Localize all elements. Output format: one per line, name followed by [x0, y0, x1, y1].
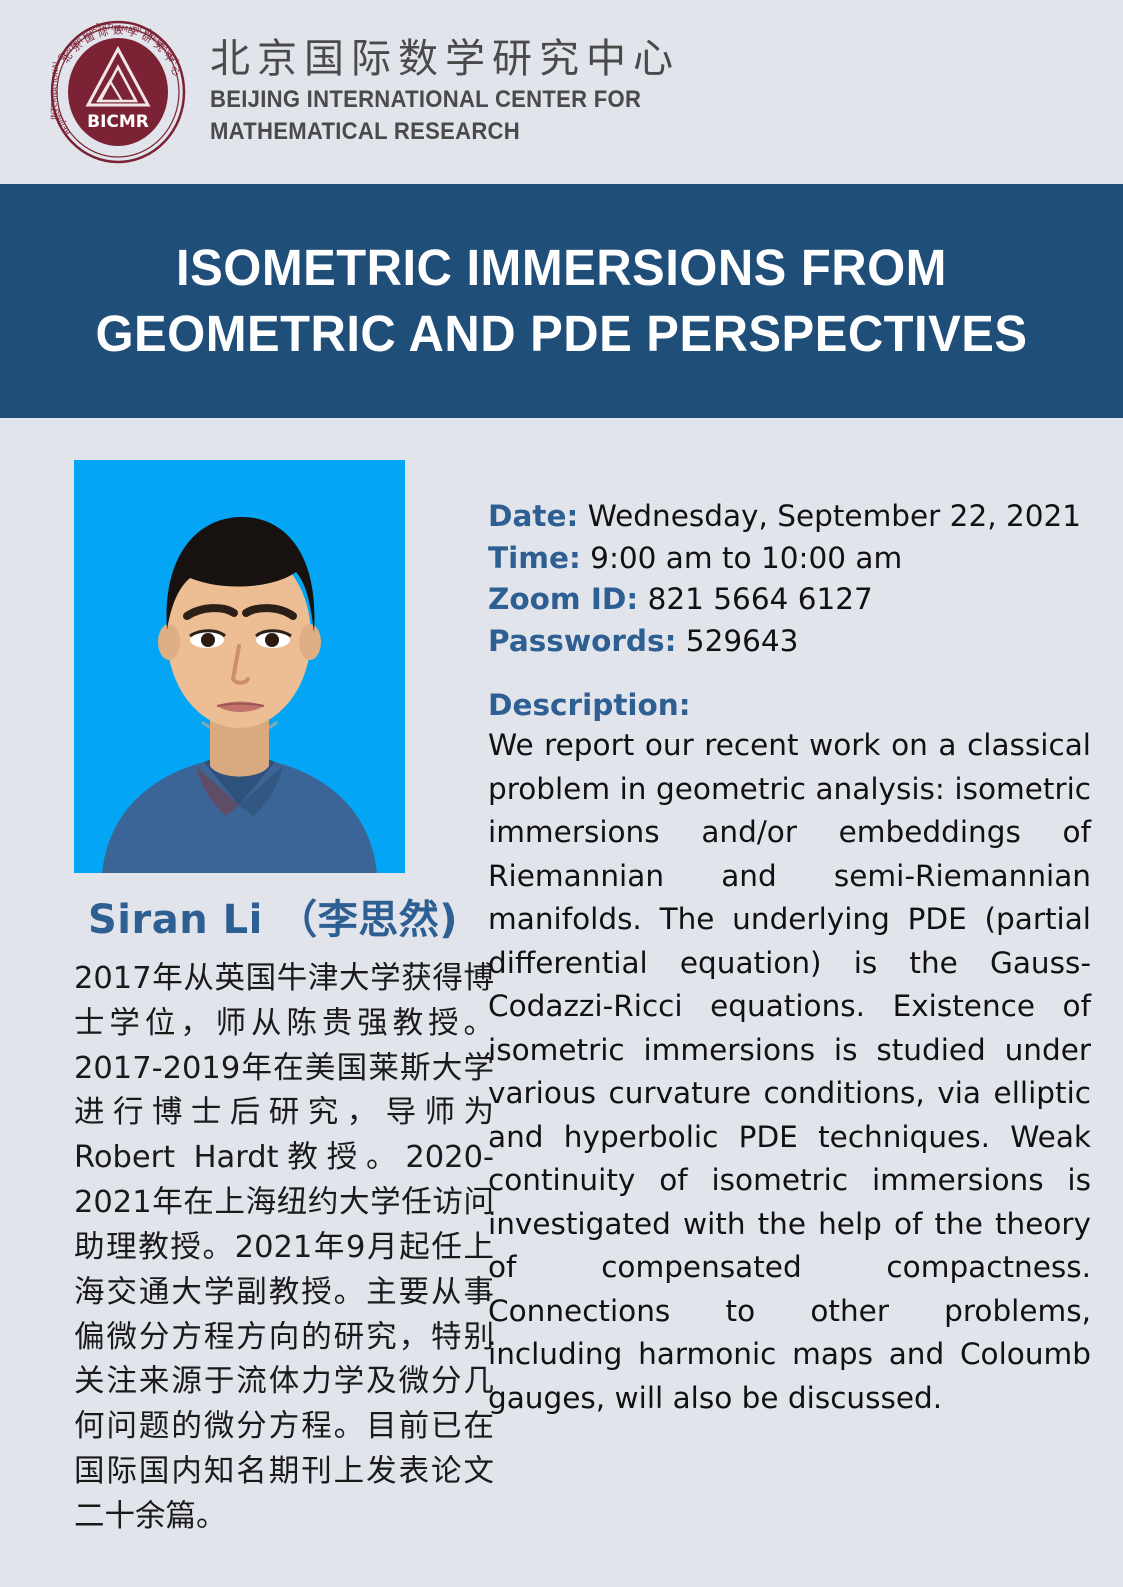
date-label: Date:: [488, 499, 578, 533]
organization-names: 北京国际数学研究中心 BEIJING INTERNATIONAL CENTER …: [210, 35, 680, 149]
description-heading: Description:: [488, 688, 1091, 722]
zoom-id-value: 821 5664 6127: [648, 582, 873, 616]
description-body: We report our recent work on a classical…: [488, 724, 1091, 1420]
speaker-bio: 2017年从英国牛津大学获得博士学位，师从陈贵强教授。2017-2019年在美国…: [74, 957, 494, 1540]
title-banner: ISOMETRIC IMMERSIONS FROM GEOMETRIC AND …: [0, 184, 1123, 418]
poster-header: BICMR BEIJING INTERNATIONAL CENTER FOR M…: [0, 0, 1123, 184]
svg-text:数: 数: [113, 24, 123, 37]
org-name-en-line1: BEIJING INTERNATIONAL CENTER FOR: [210, 84, 642, 116]
page-title: ISOMETRIC IMMERSIONS FROM GEOMETRIC AND …: [61, 235, 1062, 368]
time-value: 9:00 am to 10:00 am: [590, 541, 902, 575]
time-label: Time:: [488, 541, 581, 575]
bicmr-logo-icon: BICMR BEIJING INTERNATIONAL CENTER FOR M…: [48, 19, 188, 165]
zoom-id-label: Zoom ID:: [488, 582, 638, 616]
svg-text:BICMR: BICMR: [87, 112, 149, 132]
org-name-en-line2: MATHEMATICAL RESEARCH: [210, 116, 642, 148]
password-label: Passwords:: [488, 624, 676, 658]
password-value: 529643: [686, 624, 799, 658]
date-value: Wednesday, September 22, 2021: [588, 499, 1081, 533]
event-meta-row-time: Time: 9:00 am to 10:00 am: [488, 538, 1091, 580]
event-meta-row-zoom-id: Zoom ID: 821 5664 6127: [488, 579, 1091, 621]
event-details-column: Date: Wednesday, September 22, 2021 Time…: [470, 460, 1105, 1587]
event-meta-row-date: Date: Wednesday, September 22, 2021: [488, 496, 1091, 538]
event-meta-row-password: Passwords: 529643: [488, 621, 1091, 663]
speaker-name: Siran Li （李思然): [88, 887, 466, 945]
speaker-photo: [74, 460, 405, 873]
poster-content: Siran Li （李思然) 2017年从英国牛津大学获得博士学位，师从陈贵强教…: [0, 418, 1123, 1587]
event-meta-list: Date: Wednesday, September 22, 2021 Time…: [488, 496, 1091, 662]
speaker-column: Siran Li （李思然) 2017年从英国牛津大学获得博士学位，师从陈贵强教…: [18, 460, 470, 1587]
org-name-cn: 北京国际数学研究中心: [210, 35, 680, 84]
